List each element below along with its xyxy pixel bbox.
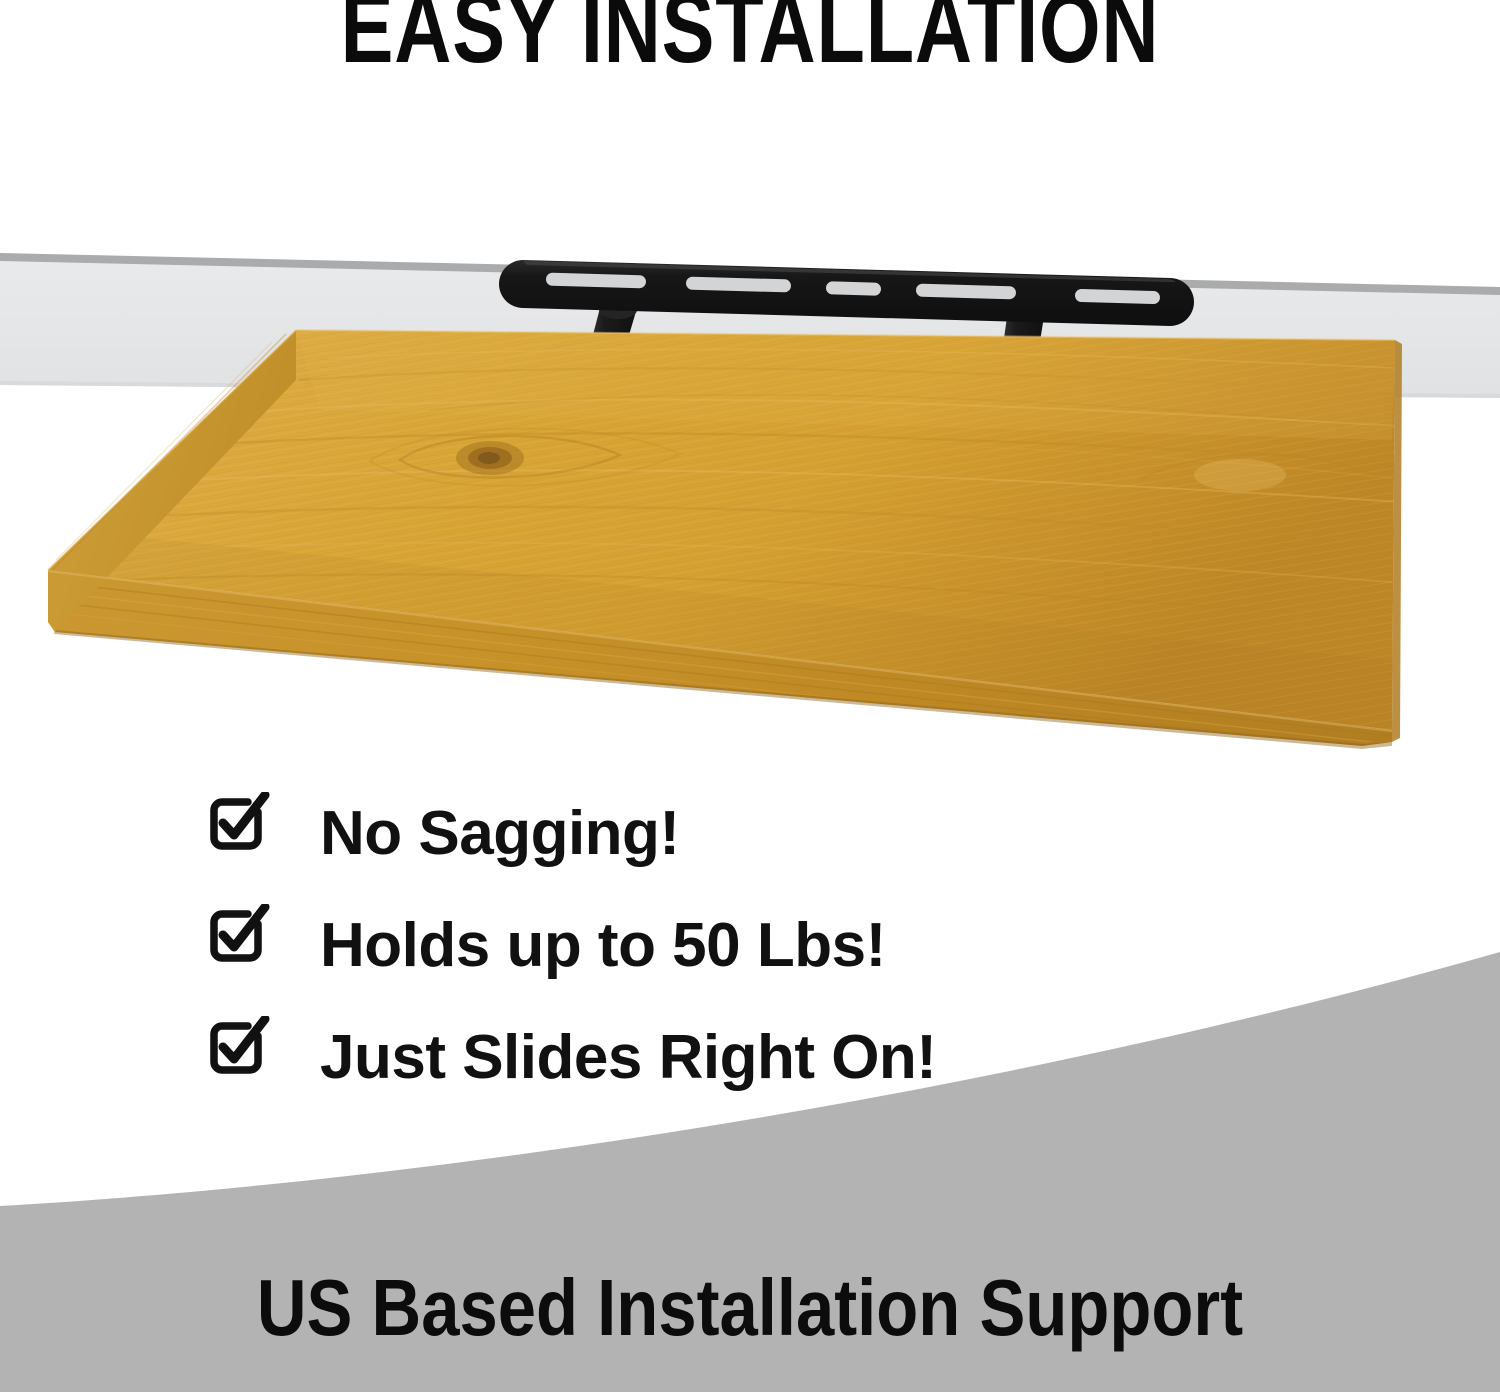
page-title: EASY INSTALLATION (150, 0, 1350, 77)
list-item: No Sagging! (200, 782, 1300, 894)
checkbox-checked-icon (208, 792, 270, 854)
footer-text: US Based Installation Support (105, 1268, 1395, 1348)
product-photo (0, 230, 1500, 790)
list-item-label: No Sagging! (320, 778, 680, 890)
marketing-image: EASY INSTALLATION (0, 0, 1500, 1392)
